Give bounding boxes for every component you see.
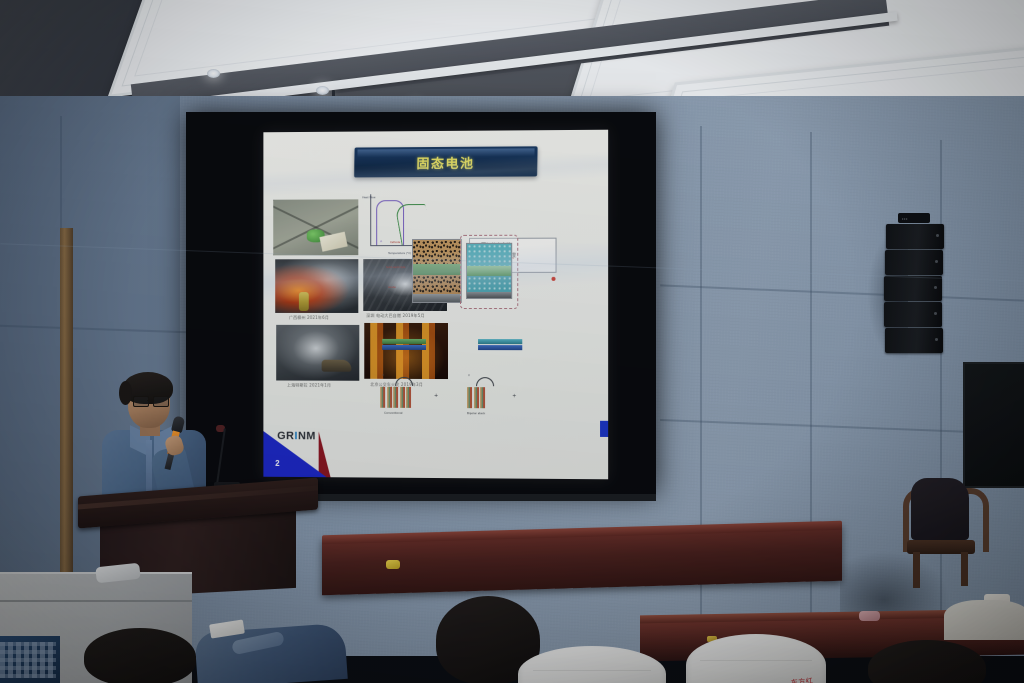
- cap-logo-text: 东方红: [791, 676, 814, 683]
- micro-layer-anode: [413, 275, 461, 294]
- slide-photo-burning-buses: [364, 323, 448, 379]
- cell-unit: [393, 387, 398, 408]
- slide-title: 固态电池: [416, 152, 474, 171]
- slide-photo-cracked-tile: [273, 199, 358, 255]
- red-marker-dot: [551, 277, 555, 281]
- control-keypad: [0, 642, 56, 678]
- led-screen: 固态电池 广西柳州 2021年6月 上海特斯拉 2021年1月 深圳 电动大巴自…: [186, 112, 656, 494]
- armchair-leg: [913, 552, 920, 588]
- wooden-armchair: [899, 478, 985, 588]
- slide-title-banner: 固态电池: [354, 146, 538, 177]
- slide-photo-caption: 深圳 电动大巴自燃 2019年5月: [366, 313, 424, 319]
- chart-annotation-left: A: [380, 239, 382, 243]
- armchair-backrest: [911, 478, 969, 540]
- cell-stack-caption: Conventional: [384, 411, 402, 415]
- cell-stack-voltage: U: [382, 374, 384, 377]
- speaker-module: [884, 302, 942, 327]
- chart-y-label: Heat Flow: [362, 195, 375, 199]
- cell-unit: [380, 387, 385, 408]
- presentation-slide: 固态电池 广西柳州 2021年6月 上海特斯拉 2021年1月 深圳 电动大巴自…: [263, 130, 608, 480]
- ceiling-downlight: [207, 69, 220, 78]
- slide-photo-caption: 广西柳州 2021年6月: [289, 315, 329, 321]
- micro-layer-electrolyte: [413, 264, 461, 275]
- slide-photo-bus-fire: [275, 259, 358, 313]
- speaker-brand-logo: •••: [902, 216, 908, 221]
- slide-micro-diagram-b: [466, 243, 512, 299]
- audience-shoulder: [944, 600, 1024, 640]
- cabinet-seam: [0, 600, 192, 602]
- micro-layer-current-collector: [413, 294, 461, 302]
- slide-bar-blue: [382, 345, 426, 350]
- cell-stack-voltage: U: [468, 374, 470, 377]
- cell-unit: [400, 387, 405, 408]
- wall-monitor: [963, 362, 1024, 488]
- slide-photo-night-smoke: [276, 325, 359, 381]
- audience-head: [84, 628, 196, 683]
- armchair-leg: [961, 552, 968, 586]
- slide-side-tab: [600, 421, 608, 437]
- conference-photo-scene: ••• 固态电池 广西柳州 2021年6月 上海特斯拉: [0, 0, 1024, 683]
- micro-annotation: Solid electrolyte: [386, 266, 405, 269]
- line-array-speaker: •••: [884, 222, 946, 352]
- cell-unit: [474, 387, 479, 408]
- speaker-module: [885, 328, 943, 353]
- speaker-module: [885, 250, 943, 275]
- chart-x-label: Temperature (°C): [388, 251, 411, 255]
- wooden-post: [60, 228, 73, 578]
- micro-layer-electrolyte: [467, 266, 511, 276]
- plus-symbol: +: [434, 393, 438, 399]
- micro-annotation: Cathode: [390, 241, 400, 244]
- slide-micro-diagram-a: [412, 239, 462, 303]
- speaker-module: [886, 224, 944, 249]
- chart-y-axis: [370, 194, 371, 246]
- cell-stack-arc: [476, 377, 494, 386]
- micro-annotation: +: [512, 257, 514, 260]
- yellow-object-on-rail: [386, 560, 400, 569]
- slide-photo-caption: 上海特斯拉 2021年1月: [287, 383, 331, 389]
- cell-unit: [467, 387, 472, 408]
- slide-bar-green: [382, 339, 426, 344]
- cell-unit: [406, 387, 411, 408]
- slide-corner-blue: [263, 431, 326, 477]
- cell-unit: [387, 387, 392, 408]
- ceiling-downlight: [316, 86, 329, 95]
- micro-layer-current-collector: [467, 292, 511, 298]
- slide-page-number: 2: [275, 459, 279, 468]
- pink-object-on-bench: [859, 611, 880, 621]
- glasses-icon: [133, 396, 169, 405]
- slide-bar-cyan: [478, 339, 522, 344]
- micro-annotation: Anode: [388, 286, 396, 289]
- cell-stack-multi: [380, 387, 411, 408]
- speaker-module: [884, 276, 942, 301]
- cell-stack-single: [467, 387, 485, 408]
- diagram-label: · · · ·: [368, 319, 373, 322]
- cell-stack-caption: Bipolar stack: [467, 411, 485, 415]
- cell-unit: [480, 387, 485, 408]
- slide-bar-blue: [478, 345, 522, 350]
- plus-symbol: +: [512, 393, 516, 399]
- gooseneck-mic-stem: [216, 428, 226, 484]
- gooseneck-microphone: [214, 428, 254, 490]
- micro-layer-anode: [467, 276, 511, 292]
